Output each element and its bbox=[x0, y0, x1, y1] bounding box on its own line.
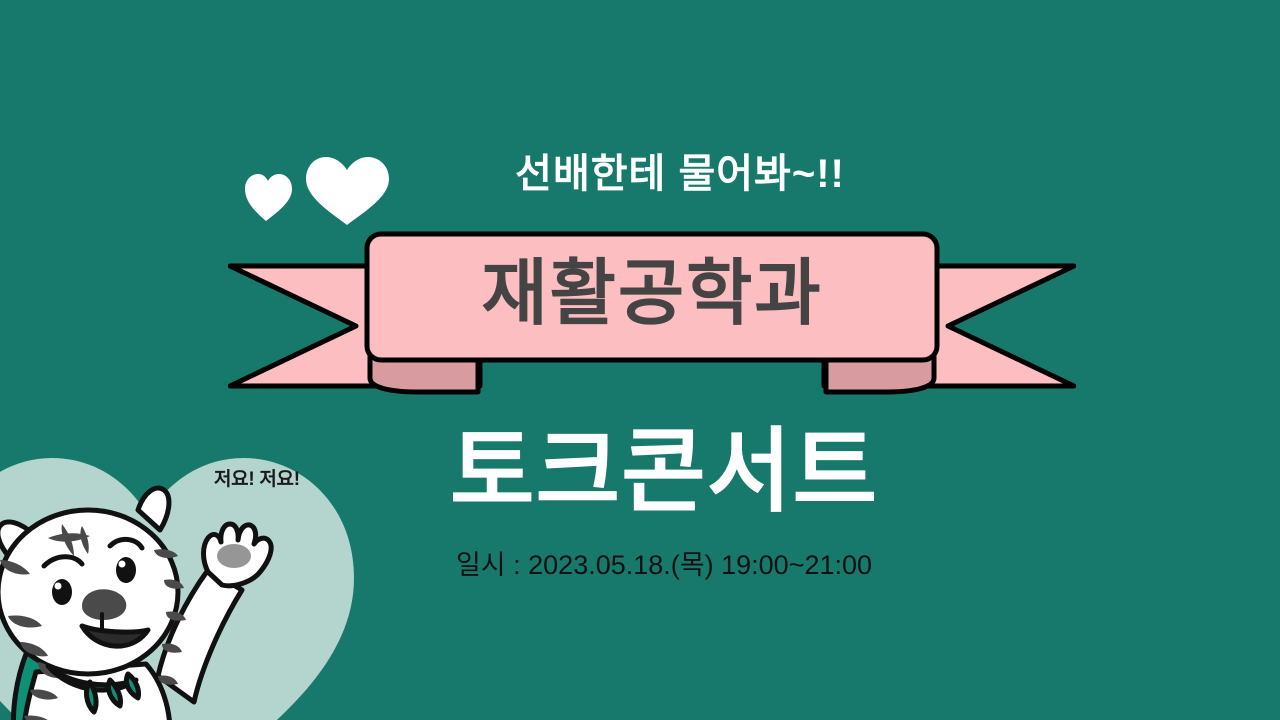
poster-canvas: 선배한테 물어봐~!! 재활공학과 토크콘서트 일시 : 2023.05.18.… bbox=[0, 0, 1280, 720]
mascot-speech-text: 저요! 저요! bbox=[214, 470, 300, 489]
mascot-ear-right bbox=[138, 488, 169, 530]
department-title: 재활공학과 bbox=[228, 226, 1076, 362]
mascot-eye-right bbox=[116, 557, 136, 583]
mascot-eye-right-glint bbox=[119, 561, 126, 568]
mascot-paw-pad bbox=[217, 544, 251, 568]
mascot-eye-left-glint bbox=[55, 583, 62, 590]
mascot-eye-left bbox=[52, 579, 72, 605]
tagline-text: 선배한테 물어봐~!! bbox=[0, 154, 1280, 194]
